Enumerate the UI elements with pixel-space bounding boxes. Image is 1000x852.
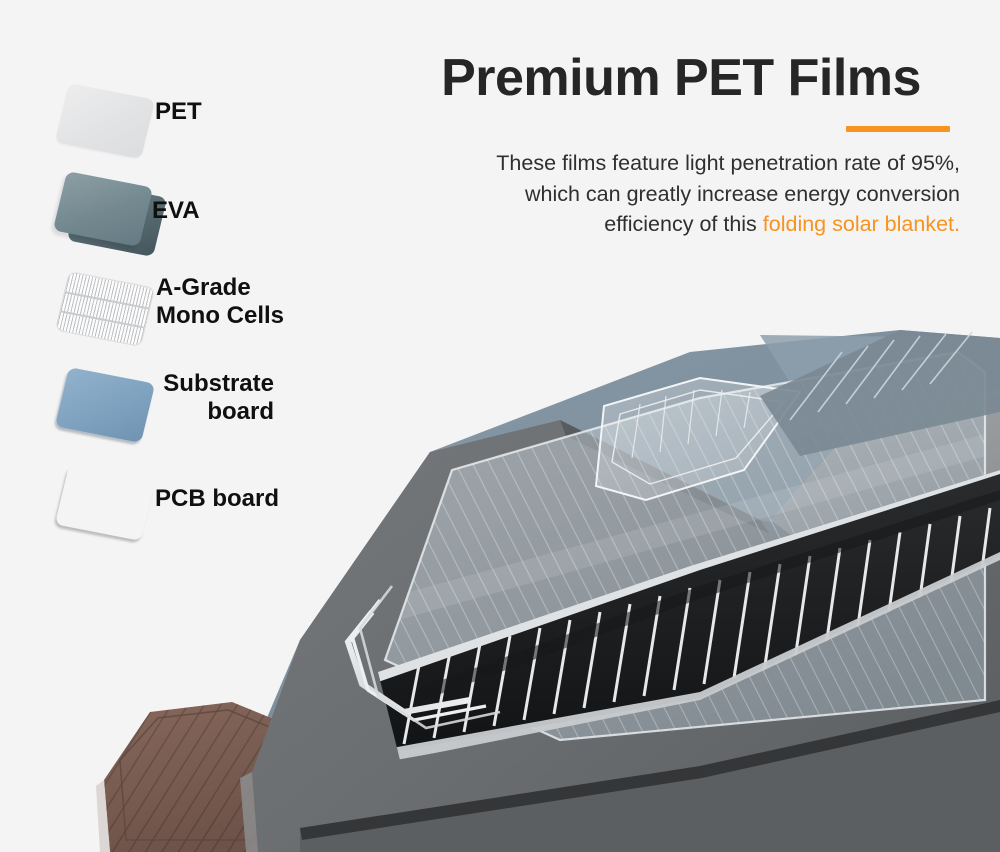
render-panel-bottom-edge	[300, 700, 1000, 852]
render-panel-facet-light	[770, 388, 1000, 560]
render-cell-strip-band	[370, 462, 1000, 760]
legend-label-pet: PET	[155, 98, 202, 126]
description-line-3-prefix: efficiency of this	[604, 212, 763, 236]
render-shadow-gap	[420, 490, 1000, 700]
pcb-board-swatch	[56, 462, 164, 558]
busbar-line	[65, 291, 149, 309]
header-block: Premium PET Films These films feature li…	[400, 52, 962, 240]
product-infographic: PET EVA A-Grade Mono Cells	[0, 0, 1000, 852]
render-pcb-board	[96, 702, 330, 852]
render-upper-cell-strips	[760, 330, 1000, 456]
eva-layer-swatch	[56, 172, 164, 268]
busbar-line	[60, 311, 144, 329]
mono-cell-swatch	[56, 266, 164, 362]
render-lifted-glass-flap	[596, 378, 800, 500]
render-panel-left-edge	[240, 772, 258, 852]
legend-label-eva: EVA	[152, 197, 200, 225]
render-panel-facet-dark	[560, 420, 770, 534]
legend-label-substrate: Substrate board	[148, 370, 274, 426]
description-line-2: which can greatly increase energy conver…	[525, 182, 960, 206]
description-highlight: folding solar blanket.	[763, 212, 960, 236]
render-frame-corner	[348, 586, 500, 728]
render-panel-body	[252, 420, 1000, 852]
pet-film-swatch	[56, 76, 164, 172]
legend-label-mono-cells: A-Grade Mono Cells	[156, 274, 284, 330]
description-text: These films feature light penetration ra…	[400, 148, 962, 240]
layer-legend: PET EVA A-Grade Mono Cells	[0, 0, 340, 570]
render-pet-glass-sheet	[340, 330, 1000, 770]
accent-underline	[846, 126, 950, 132]
description-line-1: These films feature light penetration ra…	[496, 151, 960, 175]
legend-label-pcb: PCB board	[155, 485, 279, 513]
page-title: Premium PET Films	[400, 52, 962, 104]
